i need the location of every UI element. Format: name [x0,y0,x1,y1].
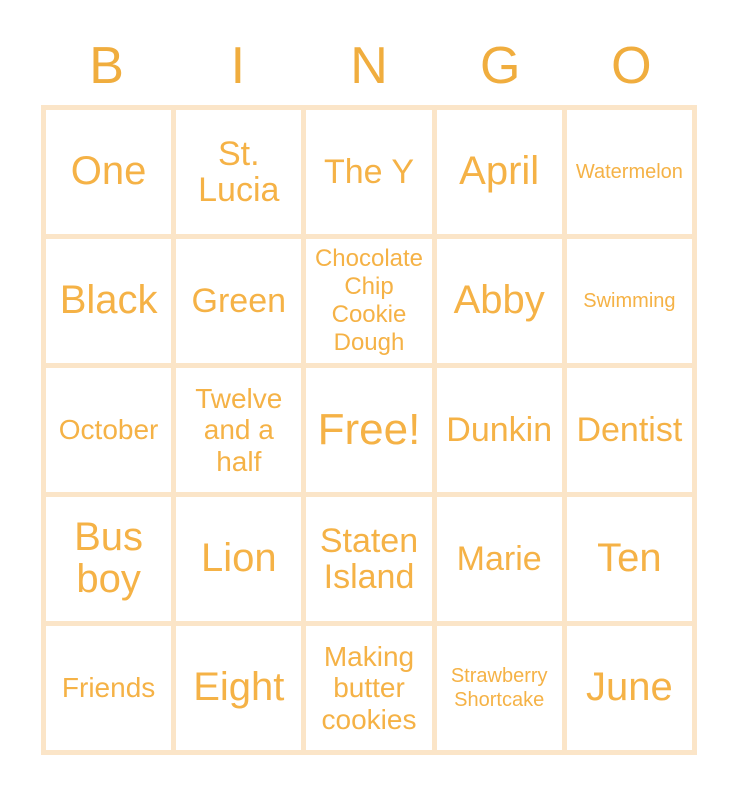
bingo-grid: One St. Lucia The Y April Watermelon Bla… [41,105,697,755]
bingo-cell[interactable]: Bus boy [46,497,171,621]
bingo-cell[interactable]: Making butter cookies [306,626,431,750]
bingo-cell[interactable]: Twelve and a half [176,368,301,492]
bingo-cell[interactable]: Dunkin [437,368,562,492]
bingo-cell-label: Green [179,283,298,319]
bingo-header-row: B I N G O [41,30,697,102]
bingo-cell[interactable]: Green [176,239,301,363]
bingo-cell[interactable]: June [567,626,692,750]
bingo-cell-label: Staten Island [309,523,428,595]
bingo-cell-label: Swimming [570,289,689,313]
bingo-cell[interactable]: Strawberry Shortcake [437,626,562,750]
bingo-cell[interactable]: Swimming [567,239,692,363]
bingo-cell-label: June [570,667,689,709]
bingo-cell-label: Marie [440,541,559,577]
bingo-cell-label: April [440,151,559,193]
bingo-cell-label: Dunkin [440,412,559,448]
bingo-cell[interactable]: Friends [46,626,171,750]
bingo-cell-label: Watermelon [570,160,689,184]
bingo-cell[interactable]: Lion [176,497,301,621]
bingo-cell[interactable]: One [46,110,171,234]
bingo-cell[interactable]: Chocolate Chip Cookie Dough [306,239,431,363]
bingo-cell-label: One [49,151,168,193]
bingo-cell-label: Bus boy [49,517,168,600]
bingo-cell[interactable]: Watermelon [567,110,692,234]
bingo-card: B I N G O One St. Lucia The Y April Wate… [0,0,737,800]
bingo-cell-label: Free! [309,408,428,453]
bingo-cell[interactable]: April [437,110,562,234]
bingo-cell-label: St. Lucia [179,136,298,208]
bingo-cell-label: Eight [179,667,298,709]
bingo-cell-label: Friends [49,672,168,703]
bingo-cell-label: Black [49,280,168,322]
bingo-cell-label: Twelve and a half [179,383,298,477]
bingo-cell-label: October [49,414,168,445]
bingo-cell-label: Ten [570,538,689,580]
bingo-cell[interactable]: St. Lucia [176,110,301,234]
header-letter-i: I [172,38,303,94]
bingo-cell[interactable]: Abby [437,239,562,363]
bingo-cell-label: Strawberry Shortcake [440,664,559,712]
header-letter-g: G [435,38,566,94]
bingo-cell-label: Abby [440,280,559,322]
bingo-cell[interactable]: October [46,368,171,492]
bingo-cell-label: The Y [309,154,428,190]
bingo-cell[interactable]: Ten [567,497,692,621]
bingo-cell[interactable]: Eight [176,626,301,750]
bingo-cell[interactable]: The Y [306,110,431,234]
bingo-cell[interactable]: Dentist [567,368,692,492]
header-letter-n: N [303,38,434,94]
bingo-cell-label: Dentist [570,412,689,448]
bingo-cell-label: Making butter cookies [309,641,428,735]
bingo-cell-label: Chocolate Chip Cookie Dough [309,245,428,356]
bingo-cell-free[interactable]: Free! [306,368,431,492]
header-letter-o: O [566,38,697,94]
bingo-cell[interactable]: Staten Island [306,497,431,621]
bingo-cell-label: Lion [179,538,298,580]
header-letter-b: B [41,38,172,94]
bingo-cell[interactable]: Marie [437,497,562,621]
bingo-cell[interactable]: Black [46,239,171,363]
